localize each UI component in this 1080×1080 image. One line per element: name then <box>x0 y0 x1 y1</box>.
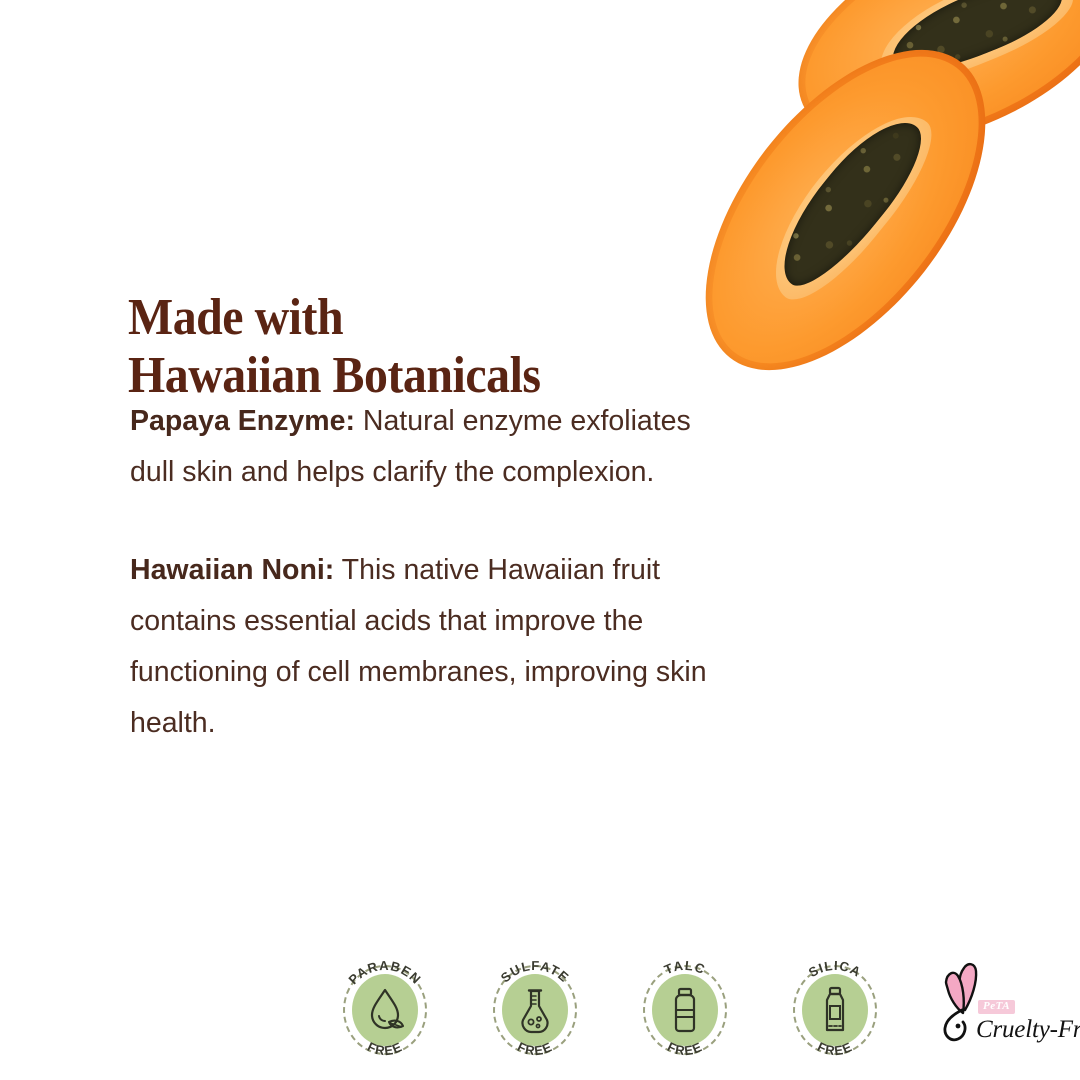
badge-bottom-label: FREE <box>515 1039 555 1058</box>
ingredient-list: Papaya Enzyme: Natural enzyme exfoliates… <box>130 396 710 748</box>
papaya-seed-cavity <box>866 0 1080 99</box>
badge-bottom-label: FREE <box>665 1039 705 1058</box>
badge-silica-free: SILICA FREE <box>780 955 890 1065</box>
container-icon <box>664 986 706 1034</box>
badge-bottom-label: FREE <box>365 1039 405 1058</box>
badge-top-label: PARABEN <box>345 958 424 987</box>
peta-tag: PeTA <box>978 1000 1015 1014</box>
ingredient-name: Papaya Enzyme: <box>130 405 355 437</box>
peta-cruelty-free-logo: PeTA Cruelty-Free <box>934 960 1080 1060</box>
droplet-leaf-icon <box>364 986 406 1034</box>
ingredient-hawaiian-noni: Hawaiian Noni: This native Hawaiian frui… <box>130 545 710 748</box>
tube-icon <box>814 986 856 1034</box>
page-title-line-1: Made with <box>128 289 643 347</box>
ingredient-name: Hawaiian Noni: <box>130 554 334 586</box>
badge-top-label: TALC <box>662 958 708 978</box>
certification-badge-row: PARABEN FREE <box>330 950 970 1070</box>
badge-paraben-free: PARABEN FREE <box>330 955 440 1065</box>
papaya-seeds <box>761 103 939 301</box>
papaya-seed-cavity <box>748 92 952 317</box>
badge-top-label: SULFATE <box>498 958 573 985</box>
papaya-half-lower <box>680 1 1040 420</box>
papaya-flesh <box>680 11 1030 410</box>
cruelty-free-label: Cruelty-Free <box>976 1016 1080 1044</box>
page-title: Made with Hawaiian Botanicals <box>128 289 643 405</box>
papaya-seeds <box>881 0 1071 87</box>
badge-sulfate-free: SULFATE FREE <box>480 955 590 1065</box>
papaya-flesh <box>775 0 1080 180</box>
badge-bottom-label: FREE <box>815 1039 855 1058</box>
product-ingredient-card: Made with Hawaiian Botanicals Papaya Enz… <box>0 0 1080 1080</box>
papaya-halves-photo <box>680 0 1080 480</box>
ingredient-papaya-enzyme: Papaya Enzyme: Natural enzyme exfoliates… <box>130 396 710 497</box>
badge-talc-free: TALC FREE <box>630 955 740 1065</box>
badge-top-label: SILICA <box>806 958 864 980</box>
papaya-half-upper <box>765 0 1080 189</box>
flask-icon <box>514 986 556 1034</box>
